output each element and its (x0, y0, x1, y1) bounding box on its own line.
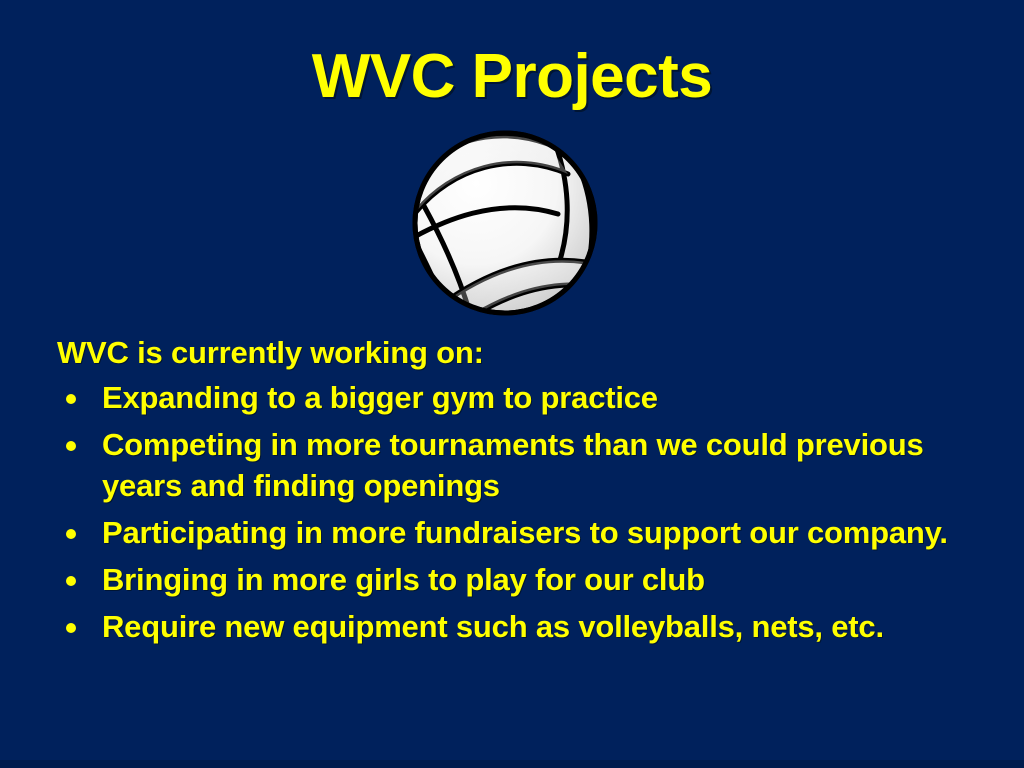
list-item: Expanding to a bigger gym to practice (60, 377, 995, 418)
slide: WVC Projects (0, 0, 1024, 768)
list-item-label: Competing in more tournaments than we co… (102, 424, 995, 506)
list-item: Participating in more fundraisers to sup… (60, 512, 995, 553)
list-item: Competing in more tournaments than we co… (60, 424, 995, 506)
volleyball-illustration (408, 128, 602, 318)
bullet-list: Expanding to a bigger gym to practice Co… (55, 377, 995, 647)
list-item-label: Bringing in more girls to play for our c… (102, 559, 995, 600)
bottom-edge-band (0, 760, 1024, 768)
bullet-dot-icon (66, 576, 76, 586)
bullet-dot-icon (66, 394, 76, 404)
list-item-label: Participating in more fundraisers to sup… (102, 512, 995, 553)
page-title: WVC Projects (0, 44, 1024, 110)
intro-line: WVC is currently working on: (57, 333, 995, 373)
bullet-dot-icon (66, 441, 76, 451)
body-content: WVC is currently working on: Expanding t… (55, 333, 995, 653)
list-item-label: Require new equipment such as volleyball… (102, 606, 995, 647)
list-item-label: Expanding to a bigger gym to practice (102, 377, 995, 418)
list-item: Require new equipment such as volleyball… (60, 606, 995, 647)
list-item: Bringing in more girls to play for our c… (60, 559, 995, 600)
bullet-dot-icon (66, 529, 76, 539)
bullet-dot-icon (66, 623, 76, 633)
